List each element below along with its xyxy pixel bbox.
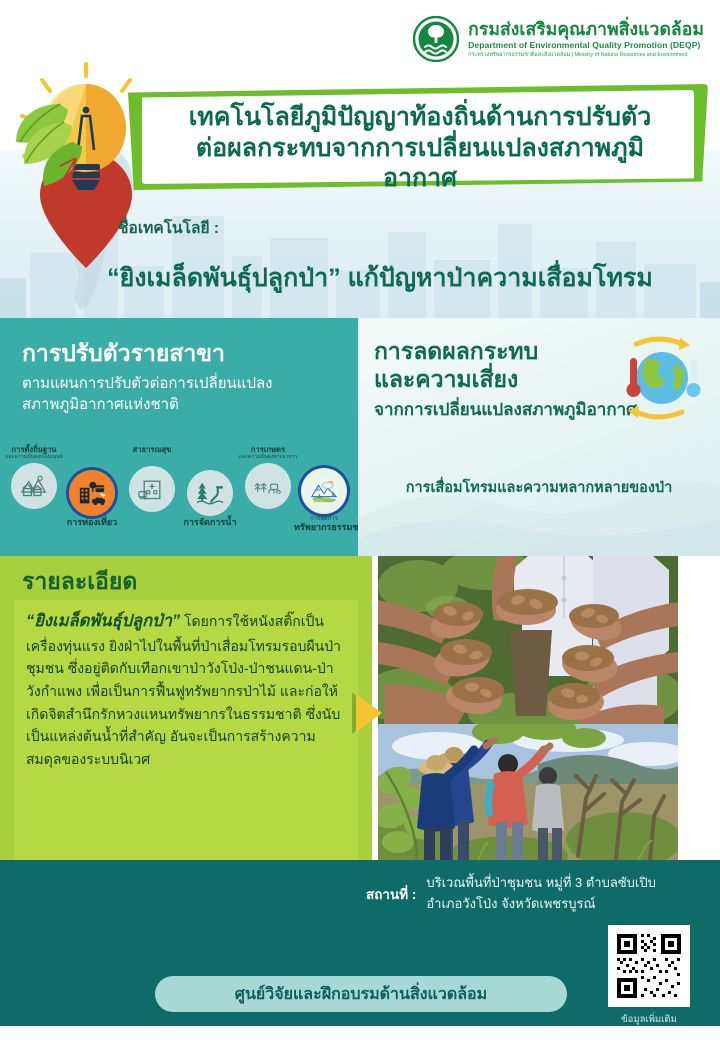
sector-panel-sub-2: สภาพภูมิอากาศแห่งชาติ <box>22 394 342 415</box>
houses-mountain-icon <box>11 463 57 509</box>
sector-panel-sub-1: ตามแผนการปรับตัวต่อการเปลี่ยนแปลง <box>22 373 342 394</box>
hills-background <box>358 446 720 556</box>
photo-slingshot-planting <box>378 724 678 864</box>
sector-label-settlement: การตั้งถิ่นฐาน และความมั่นคงของมนุษย์ <box>4 446 64 461</box>
location-value: บริเวณพื้นที่ป่าชุมชน หมู่ที่ 3 ตำบลซับเ… <box>426 872 655 915</box>
city-travel-icon <box>69 470 115 516</box>
crops-tractor-icon <box>245 463 291 509</box>
sector-icons-strip: การตั้งถิ่นฐาน และความมั่นคงของมนุษย์ <box>0 446 358 550</box>
deqp-logo: กรมส่งเสริมคุณภาพสิ่งแวดล้อม Department … <box>413 16 704 62</box>
technology-label: ชื่อเทคโนโลยี : <box>118 215 219 240</box>
poster-root: กรมส่งเสริมคุณภาพสิ่งแวดล้อม Department … <box>0 0 720 1040</box>
deqp-seal-icon <box>413 16 459 62</box>
arrow-pointer-icon <box>352 690 386 736</box>
footer-organization-pill: ศูนย์วิจัยและฝึกอบรมด้านสิ่งแวดล้อม <box>155 976 567 1012</box>
mountain-forest-icon <box>301 468 347 514</box>
main-title-banner: เทคโนโลยีภูมิปัญญาท้องถิ่นด้านการปรับตัว… <box>128 84 708 190</box>
org-name-english: Department of Environmental Quality Prom… <box>468 41 704 51</box>
sector-item-settlement[interactable]: การตั้งถิ่นฐาน และความมั่นคงของมนุษย์ <box>4 446 64 509</box>
sector-item-natural-resources[interactable]: การจัดการ ทรัพยากรธรรมชาติ <box>294 466 354 532</box>
photo-seeds-in-hands <box>378 556 678 724</box>
river-faucet-icon <box>187 470 233 516</box>
ministry-line: กระทรวงทรัพยากรธรรมชาติและสิ่งแวดล้อม | … <box>468 52 704 58</box>
sector-label-tourism: การท่องเที่ยว <box>62 518 122 528</box>
sector-item-water[interactable]: การจัดการน้ำ <box>180 468 240 528</box>
title-line-2: ต่อผลกระทบจากการเปลี่ยนแปลงสภาพภูมิอากาศ <box>160 133 680 194</box>
details-body-text: “ยิงเมล็ดพันธุ์ปลูกป่า” โดยการใช้หนังสติ… <box>26 608 346 771</box>
sector-panel-heading: การปรับตัวรายสาขา <box>22 340 342 367</box>
org-name-thai: กรมส่งเสริมคุณภาพสิ่งแวดล้อม <box>468 20 704 40</box>
panels-row: การปรับตัวรายสาขา ตามแผนการปรับตัวต่อการ… <box>0 318 720 556</box>
risk-text: การเสื่อมโทรมและความหลากหลายของป่า <box>358 476 720 499</box>
header-zone: กรมส่งเสริมคุณภาพสิ่งแวดล้อม Department … <box>0 0 720 318</box>
globe-thermometer-cycle-icon <box>602 332 706 424</box>
details-heading: รายละเอียด <box>22 564 137 600</box>
location-label: สถานที่ : <box>366 872 416 915</box>
sector-item-public-health[interactable]: สาธารณสุข <box>122 446 182 512</box>
sector-item-tourism[interactable]: การท่องเที่ยว <box>62 468 122 528</box>
sector-label-agriculture: การเกษตร และความมั่นคงทางอาหาร <box>238 446 298 461</box>
bottom-white-strip <box>0 1026 720 1040</box>
footer-organization-label: ศูนย์วิจัยและฝึกอบรมด้านสิ่งแวดล้อม <box>235 982 487 1007</box>
details-lead: “ยิงเมล็ดพันธุ์ปลูกป่า” <box>26 612 180 630</box>
hospital-icon <box>129 466 175 512</box>
qr-caption: ข้อมูลเพิ่มเติม <box>600 1012 698 1027</box>
sector-item-agriculture[interactable]: การเกษตร และความมั่นคงทางอาหาร <box>238 446 298 509</box>
technology-name: “ยิงเมล็ดพันธุ์ปลูกป่า” แก้ปัญหาป่าความเ… <box>0 258 720 298</box>
title-line-1: เทคโนโลยีภูมิปัญญาท้องถิ่นด้านการปรับตัว <box>160 102 680 133</box>
sector-adaptation-panel: การปรับตัวรายสาขา ตามแผนการปรับตัวต่อการ… <box>0 318 358 556</box>
sector-label-natural-resources: การจัดการ ทรัพยากรธรรมชาติ <box>294 516 354 532</box>
qr-code-icon[interactable] <box>608 925 690 1007</box>
details-paragraph: โดยการใช้หนังสติ๊กเป็นเครื่องทุ่นแรง ยิง… <box>26 613 341 767</box>
location-block: สถานที่ : บริเวณพื้นที่ป่าชุมชน หมู่ที่ … <box>366 872 706 915</box>
location-line-1: บริเวณพื้นที่ป่าชุมชน หมู่ที่ 3 ตำบลซับเ… <box>426 872 655 893</box>
sector-label-water: การจัดการน้ำ <box>180 518 240 528</box>
location-line-2: อำเภอวังโป่ง จังหวัดเพชรบูรณ์ <box>426 893 655 914</box>
sector-label-public-health: สาธารณสุข <box>122 446 182 454</box>
impact-reduction-panel: การลดผลกระทบ และความเสี่ยง จากการเปลี่ยน… <box>358 318 720 556</box>
